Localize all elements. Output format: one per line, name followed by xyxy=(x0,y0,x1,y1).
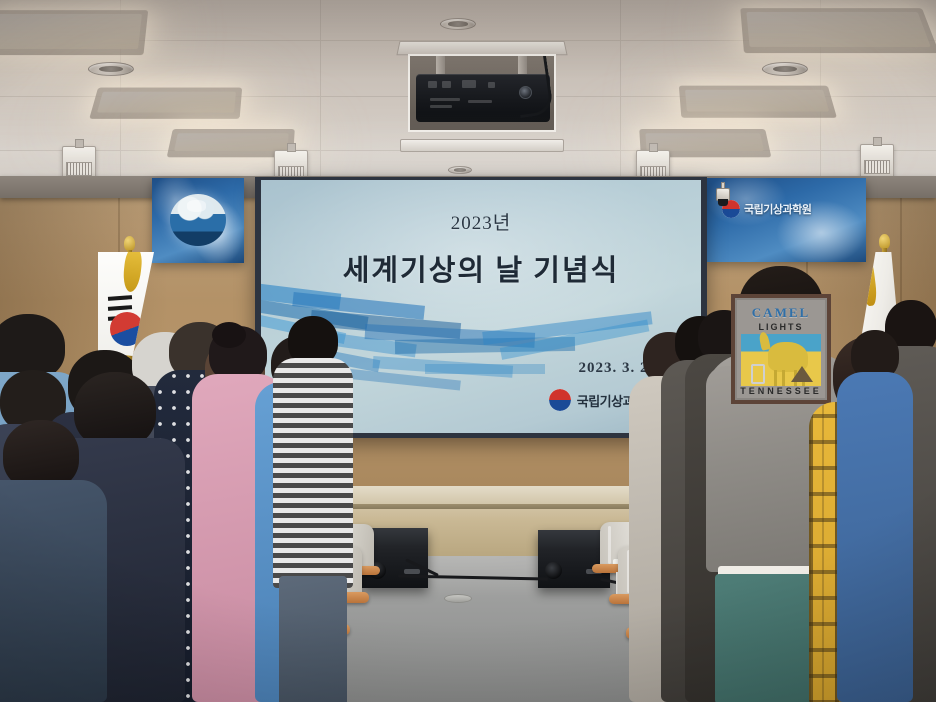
slide-main-title: 세계기상의 날 기념식 xyxy=(261,247,701,289)
ceiling-light-panel xyxy=(174,133,288,151)
security-camera-icon xyxy=(714,182,732,208)
audience-member xyxy=(278,316,348,702)
ceiling-light-panel xyxy=(0,14,142,49)
torso xyxy=(0,480,107,702)
audience-member xyxy=(846,330,904,702)
conference-room-photo: 국립기상과학원 xyxy=(0,0,936,702)
ceiling xyxy=(0,0,936,196)
projector-body xyxy=(416,74,550,122)
ceiling-light-panel xyxy=(685,90,829,112)
taegeuk-icon xyxy=(549,389,571,411)
ceiling-projector xyxy=(404,44,559,143)
ceiling-light-panel xyxy=(746,12,930,47)
globe-icon xyxy=(170,194,226,246)
ceiling-speaker xyxy=(762,62,808,76)
camel-region-text: TENNESSEE xyxy=(735,386,827,396)
wall-speaker xyxy=(860,144,894,178)
slide-year: 2023년 xyxy=(261,208,701,235)
deck-chair-icon xyxy=(751,364,765,384)
ceiling-light-panel xyxy=(97,92,236,113)
institute-banner-label: 국립기상과학원 xyxy=(744,201,811,217)
ceiling-speaker xyxy=(448,166,472,174)
floor-cable-plate xyxy=(444,594,472,603)
camel-desert-scene xyxy=(741,334,821,386)
projector-lens xyxy=(519,86,532,99)
legs xyxy=(279,576,347,702)
projector-housing-base xyxy=(400,139,564,152)
audience-member xyxy=(0,420,96,702)
projector-lid xyxy=(396,41,567,55)
camel-brand-text: CAMEL xyxy=(735,305,827,321)
ceiling-speaker xyxy=(88,62,134,76)
projector-cable xyxy=(512,54,554,118)
institute-logo: 국립기상과학원 xyxy=(722,200,811,218)
camel-lights-graphic: CAMEL LIGHTS TENNESSEE xyxy=(731,294,831,404)
torso xyxy=(837,372,913,702)
earth-globe-banner xyxy=(152,178,244,263)
slide-title-block: 2023년 세계기상의 날 기념식 xyxy=(261,208,701,289)
ceiling-tile-grid xyxy=(0,0,936,196)
wall-speaker xyxy=(62,146,96,180)
camel-variant-text: LIGHTS xyxy=(735,322,827,332)
ceiling-light-panel xyxy=(645,133,763,151)
ceiling-speaker xyxy=(440,18,476,30)
projector-cavity xyxy=(408,54,556,132)
torso xyxy=(273,358,353,588)
tent-icon xyxy=(791,366,813,382)
hair-bun xyxy=(212,322,246,348)
